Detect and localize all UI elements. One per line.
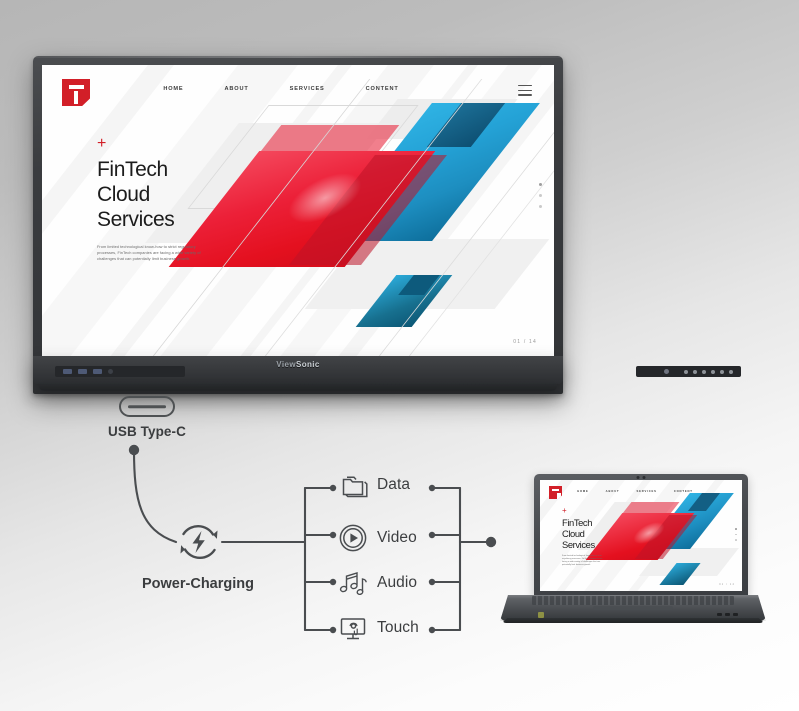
interactive-flat-panel: HOME ABOUT SERVICES CONTENT + FinTech Cl…: [33, 56, 563, 394]
hamburger-menu-icon[interactable]: [518, 85, 532, 99]
power-key-icon[interactable]: [664, 369, 669, 374]
laptop-title-line-3: Services: [562, 539, 595, 550]
node-usb-source: [129, 445, 139, 455]
panel-screen: HOME ABOUT SERVICES CONTENT + FinTech Cl…: [42, 65, 554, 358]
fintech-webpage: HOME ABOUT SERVICES CONTENT + FinTech Cl…: [42, 65, 554, 358]
feature-video: Video: [336, 523, 417, 553]
music-notes-icon: [336, 568, 370, 598]
laptop-fintech-webpage: HOME ABOUT SERVICES CONTENT + FinTech Cl…: [540, 480, 742, 591]
feature-audio: Audio: [336, 568, 417, 598]
laptop-nav-item-home[interactable]: HOME: [577, 490, 588, 493]
slide-dot-3[interactable]: [539, 205, 542, 208]
webpage-nav: HOME ABOUT SERVICES CONTENT: [42, 86, 554, 92]
nav-item-home[interactable]: HOME: [163, 86, 183, 92]
title-line-1: FinTech: [97, 158, 168, 181]
laptop-lid: HOME ABOUT SERVICES CONTENT + FinTech Cl…: [534, 474, 748, 598]
laptop-screen: HOME ABOUT SERVICES CONTENT + FinTech Cl…: [540, 480, 742, 591]
diagram-nodes: [129, 445, 496, 633]
laptop-webpage-nav: HOME ABOUT SERVICES CONTENT: [540, 490, 742, 493]
feature-data-label: Data: [377, 476, 410, 494]
laptop-plus-mark-icon: +: [562, 508, 620, 513]
laptop-title-line-1: FinTech: [562, 517, 592, 528]
laptop-page-title: FinTech Cloud Services: [562, 517, 620, 550]
laptop-foot: [502, 618, 764, 623]
laptop-webcam-icon: [637, 476, 646, 479]
hero-artwork: [182, 89, 554, 358]
panel-port-cluster: [55, 366, 185, 377]
nav-item-content[interactable]: CONTENT: [366, 86, 399, 92]
usb-type-c-port-icon: [119, 396, 175, 417]
slide-indicator-dots[interactable]: [539, 183, 542, 216]
laptop: HOME ABOUT SERVICES CONTENT + FinTech Cl…: [500, 474, 766, 644]
laptop-hero-block: + FinTech Cloud Services From limited te…: [562, 508, 620, 567]
power-charging-icon: [181, 526, 218, 558]
panel-control-keys[interactable]: [636, 366, 741, 377]
feature-touch: Touch: [336, 613, 419, 643]
slide-dot-2[interactable]: [539, 194, 542, 197]
laptop-title-line-2: Cloud: [562, 528, 585, 539]
laptop-nav-item-services[interactable]: SERVICES: [636, 490, 656, 493]
title-line-3: Services: [97, 208, 174, 231]
feature-data: Data: [336, 470, 410, 500]
nav-item-about[interactable]: ABOUT: [225, 86, 249, 92]
hero-paragraph: From limited technological know-how to s…: [97, 244, 201, 263]
page-title: FinTech Cloud Services: [97, 157, 227, 232]
feature-video-label: Video: [377, 529, 417, 547]
node-laptop-target: [486, 537, 496, 547]
panel-stand: [35, 382, 561, 390]
laptop-hero-paragraph: From limited technological know-how to s…: [562, 555, 608, 567]
fintech-logo-icon: [62, 79, 90, 106]
feature-touch-label: Touch: [377, 619, 419, 637]
feature-audio-label: Audio: [377, 574, 417, 592]
scene: HOME ABOUT SERVICES CONTENT + FinTech Cl…: [0, 0, 799, 711]
plus-mark-icon: +: [97, 139, 227, 149]
hero-block: + FinTech Cloud Services From limited te…: [97, 139, 227, 263]
nav-item-services[interactable]: SERVICES: [290, 86, 325, 92]
laptop-side-ports: [717, 613, 738, 616]
slide-pagination: 01 / 14: [513, 339, 537, 345]
title-line-2: Cloud: [97, 183, 150, 206]
laptop-badge: [538, 612, 544, 618]
slide-dot-1[interactable]: [539, 183, 542, 186]
laptop-nav-item-content[interactable]: CONTENT: [674, 490, 693, 493]
touch-monitor-icon: [336, 613, 370, 643]
power-charging-label: Power-Charging: [108, 576, 288, 592]
laptop-slide-pagination: 01 / 14: [719, 583, 735, 586]
video-play-icon: [336, 523, 370, 553]
laptop-nav-item-about[interactable]: ABOUT: [606, 490, 620, 493]
folder-icon: [336, 470, 370, 500]
laptop-slide-indicator-dots[interactable]: [735, 528, 737, 545]
